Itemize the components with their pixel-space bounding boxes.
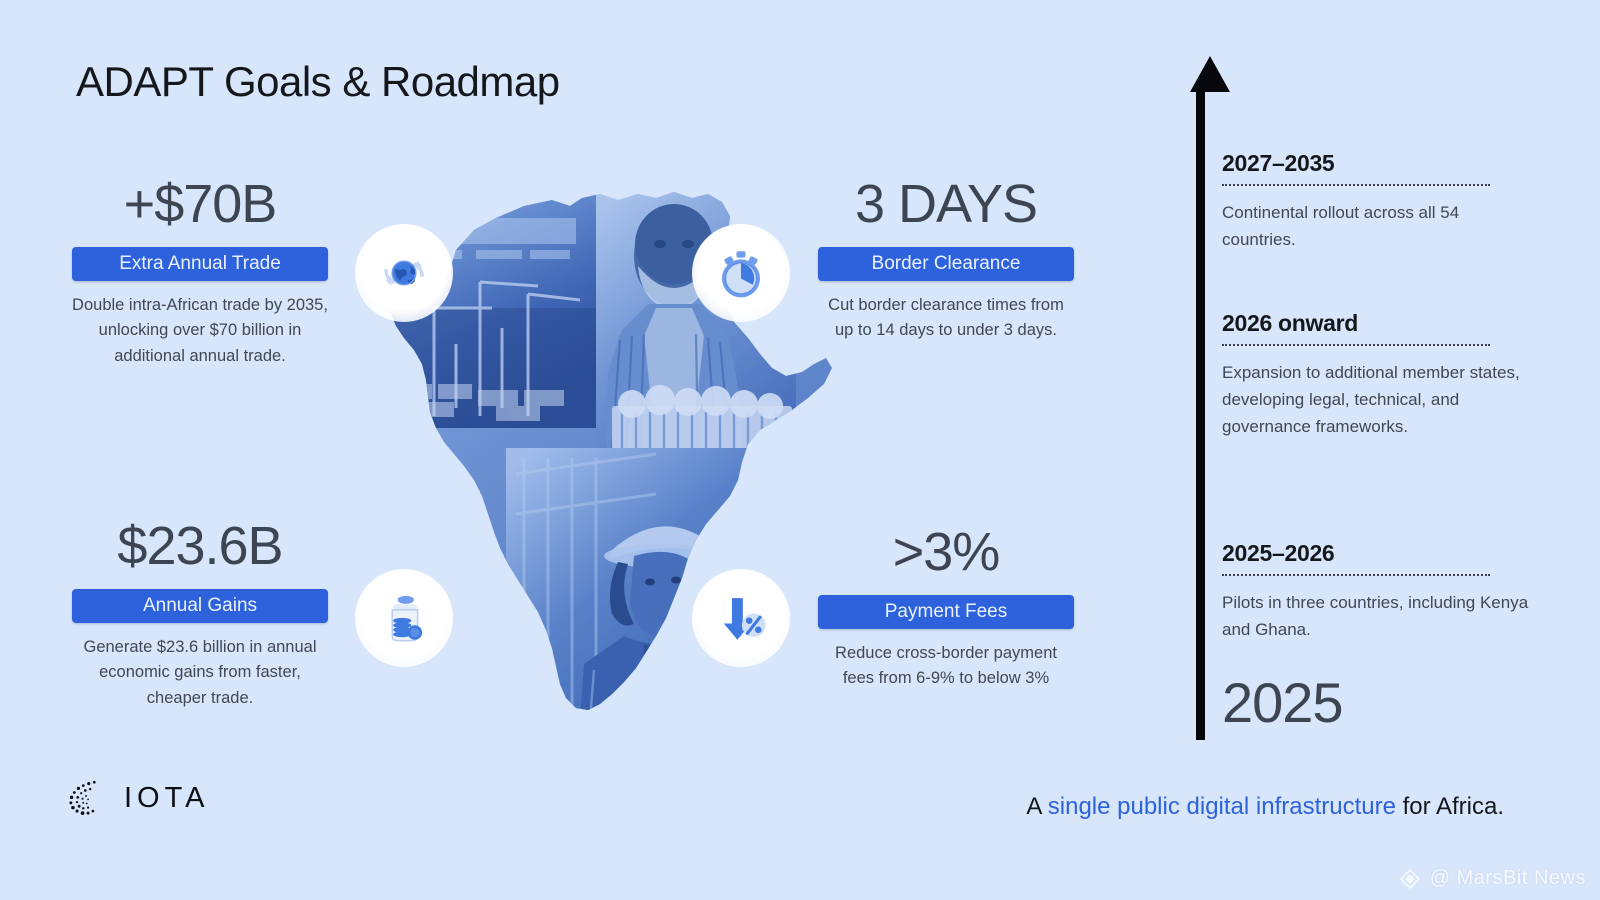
stat-payment-fees: >3% Payment Fees Reduce cross-border pay… <box>818 524 1074 692</box>
stat-description: Cut border clearance times from up to 14… <box>818 293 1074 344</box>
timeline-entry: 2026 onward Expansion to additional memb… <box>1222 310 1532 441</box>
stat-badge: Annual Gains <box>72 589 328 623</box>
page-title: ADAPT Goals & Roadmap <box>76 58 560 106</box>
savings-jar-icon <box>355 569 453 667</box>
stat-border-clearance: 3 DAYS Border Clearance Cut border clear… <box>818 176 1074 344</box>
watermark: @ MarsBit News <box>1399 867 1586 890</box>
timeline-arrow-icon <box>1190 56 1230 92</box>
stat-description: Double intra-African trade by 2035, unlo… <box>72 293 328 370</box>
stat-description: Reduce cross-border payment fees from 6-… <box>818 641 1074 692</box>
timeline-year: 2025–2026 <box>1222 540 1532 567</box>
stat-badge: Payment Fees <box>818 595 1074 629</box>
timeline-entry: 2025–2026 Pilots in three countries, inc… <box>1222 540 1532 643</box>
timeline-divider <box>1222 344 1490 346</box>
globe-exchange-icon <box>355 224 453 322</box>
timeline-year: 2027–2035 <box>1222 150 1532 177</box>
stat-annual-gains: $23.6B Annual Gains Generate $23.6 billi… <box>72 518 328 711</box>
roadmap-timeline: 2027–2035 Continental rollout across all… <box>1186 90 1566 740</box>
iota-mark-icon <box>64 776 108 820</box>
timeline-text: Continental rollout across all 54 countr… <box>1222 199 1532 253</box>
tagline-highlight: single public digital infrastructure <box>1048 793 1396 820</box>
timeline-axis <box>1196 90 1205 740</box>
iota-wordmark: IOTA <box>124 782 210 815</box>
infographic-canvas: ADAPT Goals & Roadmap <box>0 0 1600 900</box>
tagline: A single public digital infrastructure f… <box>1026 793 1504 821</box>
stat-extra-annual-trade: +$70B Extra Annual Trade Double intra-Af… <box>72 176 328 369</box>
stat-badge: Extra Annual Trade <box>72 247 328 281</box>
stat-badge: Border Clearance <box>818 247 1074 281</box>
stat-value: $23.6B <box>72 518 328 575</box>
stat-description: Generate $23.6 billion in annual economi… <box>72 635 328 712</box>
timeline-entry: 2027–2035 Continental rollout across all… <box>1222 150 1532 253</box>
tagline-suffix: for Africa. <box>1396 793 1504 820</box>
watermark-text: @ MarsBit News <box>1430 867 1586 890</box>
timeline-text: Pilots in three countries, including Ken… <box>1222 589 1532 643</box>
timeline-current-year: 2025 <box>1222 670 1343 735</box>
stat-value: >3% <box>818 524 1074 581</box>
stat-value: +$70B <box>72 176 328 233</box>
stat-value: 3 DAYS <box>818 176 1074 233</box>
iota-logo: IOTA <box>64 776 210 820</box>
arrow-down-percent-icon <box>692 569 790 667</box>
timeline-text: Expansion to additional member states, d… <box>1222 359 1532 441</box>
timeline-divider <box>1222 574 1490 576</box>
diamond-logo-icon <box>1399 868 1421 890</box>
stopwatch-icon <box>692 224 790 322</box>
timeline-divider <box>1222 184 1490 186</box>
tagline-prefix: A <box>1026 793 1047 820</box>
timeline-year: 2026 onward <box>1222 310 1532 337</box>
